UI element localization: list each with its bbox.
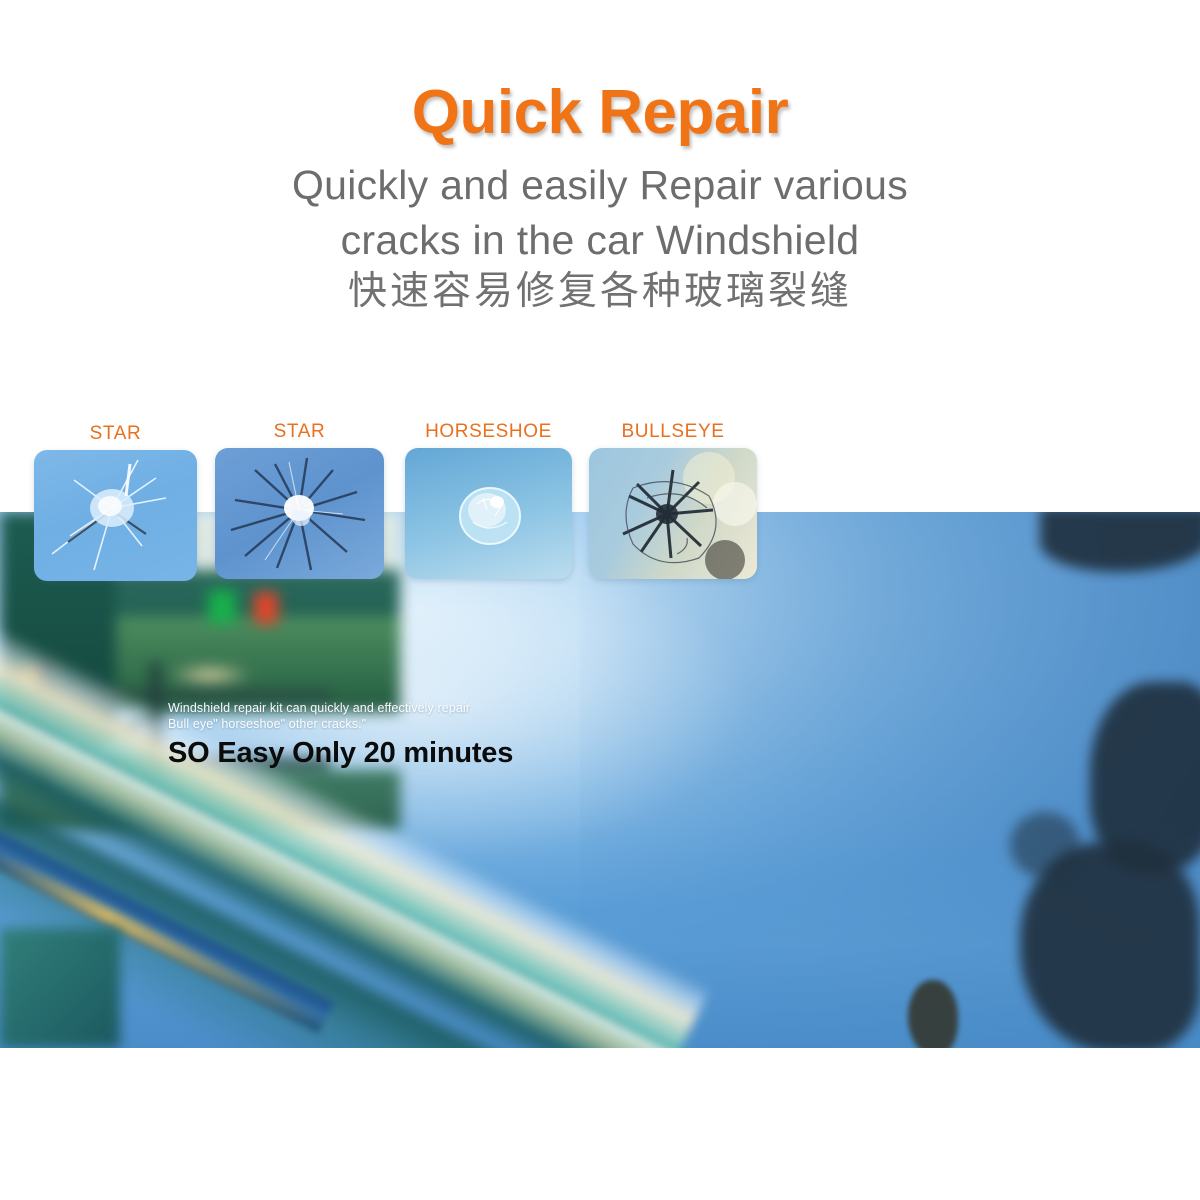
damage-card-2[interactable]: STAR	[215, 422, 384, 579]
star-crack-icon	[34, 450, 197, 581]
damage-card-3-label: HORSESHOE	[405, 422, 572, 441]
product-photo: Windshield repair kit can quickly and ef…	[0, 512, 1200, 1048]
background-warm-glow-center	[150, 660, 270, 690]
overlay-headline: SO Easy Only 20 minutes	[168, 738, 688, 768]
photo-overlay-copy: Windshield repair kit can quickly and ef…	[168, 700, 688, 768]
footer-whitespace	[0, 1048, 1200, 1200]
background-green-bucket	[208, 590, 236, 624]
tree-reflection-blob	[1010, 812, 1080, 878]
subtitle-line-1: Quickly and easily Repair various	[0, 165, 1200, 206]
damage-card-2-label: STAR	[215, 422, 384, 441]
header-section: Quick Repair Quickly and easily Repair v…	[0, 0, 1200, 340]
damage-card-4-label: BULLSEYE	[589, 422, 757, 441]
damage-card-3-image	[405, 448, 572, 579]
horseshoe-chip-icon	[405, 448, 572, 579]
damage-card-4[interactable]: BULLSEYE	[589, 422, 757, 584]
tree-reflection-top	[1040, 512, 1200, 572]
page-title: Quick Repair	[0, 82, 1200, 144]
subtitle-chinese: 快速容易修复各种玻璃裂缝	[0, 272, 1200, 311]
damage-card-2-image	[215, 448, 384, 579]
star-crack-icon	[215, 448, 384, 579]
damage-card-4-image	[589, 448, 757, 579]
hood-dark-spot	[908, 980, 958, 1048]
damage-card-1-label: STAR	[34, 424, 197, 443]
damage-card-1[interactable]: STAR	[34, 424, 197, 581]
overlay-line-1: Windshield repair kit can quickly and ef…	[168, 700, 688, 716]
subtitle-line-2: cracks in the car Windshield	[0, 220, 1200, 261]
damage-card-1-image	[34, 450, 197, 581]
overlay-line-2: Bull eye" horseshoe" other cracks."	[168, 716, 688, 732]
damage-card-3[interactable]: HORSESHOE	[405, 422, 572, 583]
left-teal-reflection	[0, 928, 120, 1048]
background-red-bucket	[254, 592, 278, 624]
bullseye-crack-icon	[589, 448, 757, 579]
